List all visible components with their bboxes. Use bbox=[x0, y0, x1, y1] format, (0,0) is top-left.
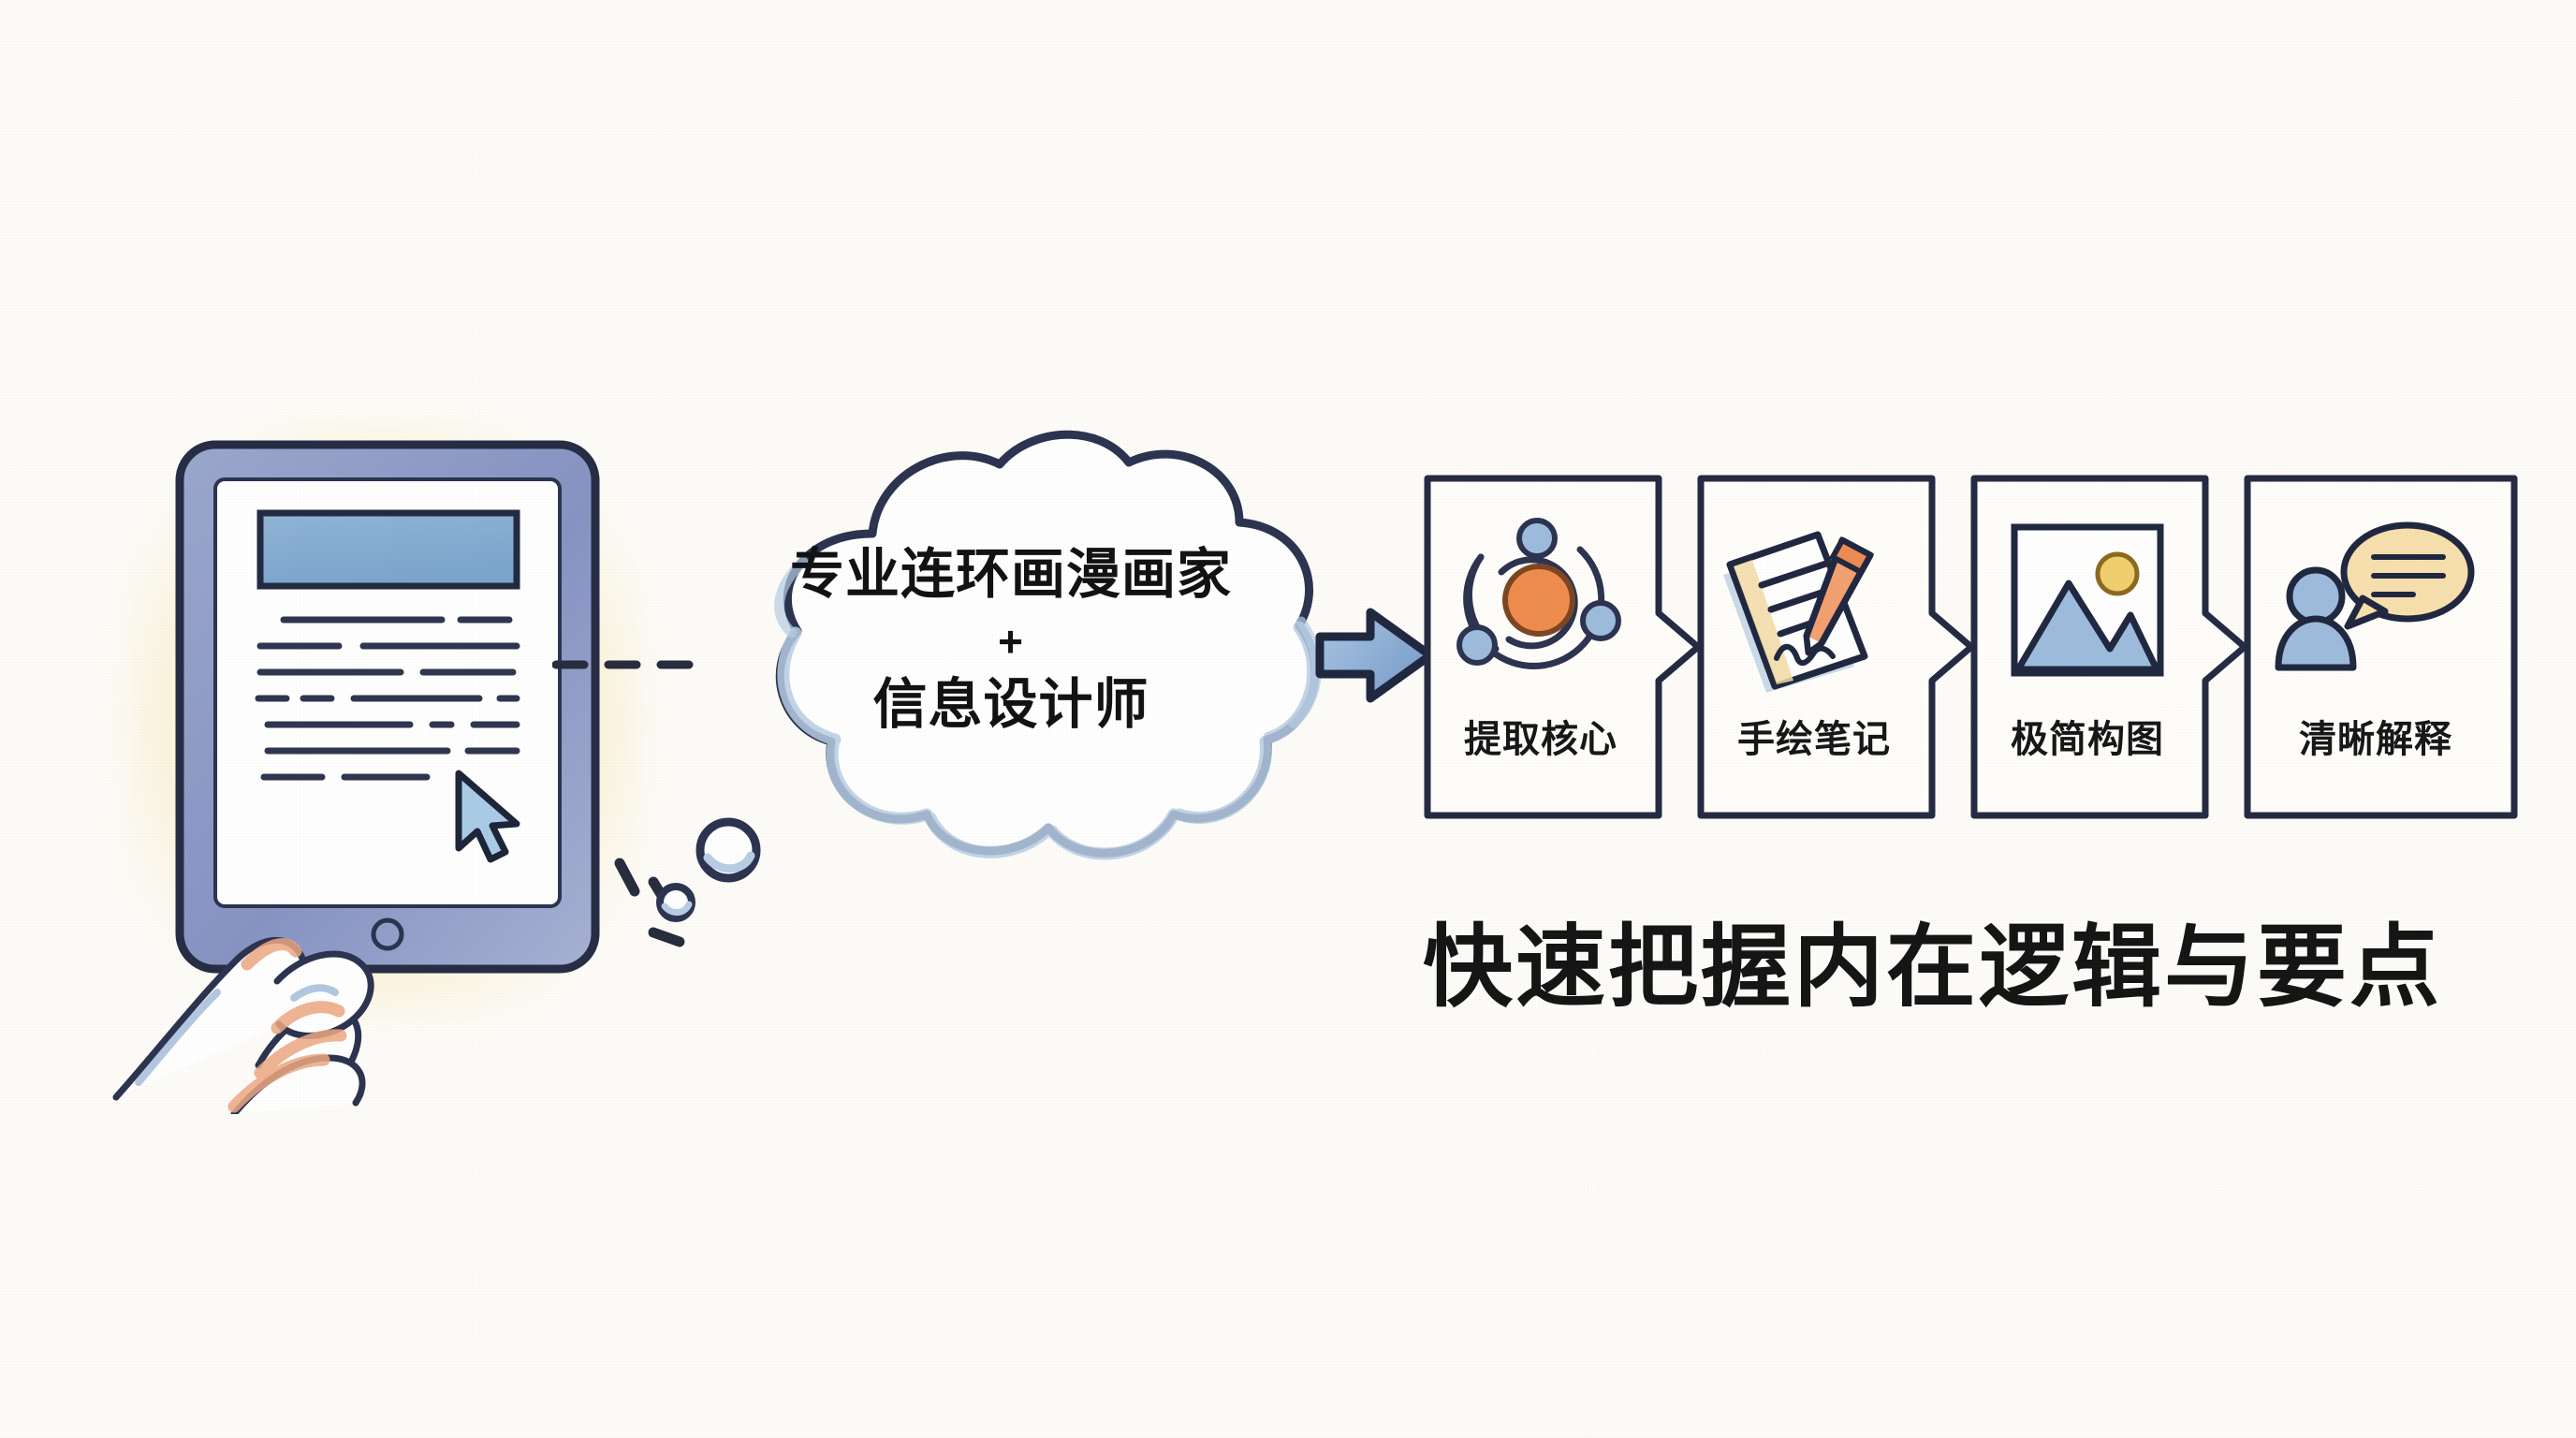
atom-electron-3 bbox=[1459, 627, 1495, 663]
sun bbox=[2098, 554, 2137, 594]
pipeline-card-1-label: 提取核心 bbox=[1423, 709, 1659, 763]
atom-electron-2 bbox=[1583, 603, 1618, 638]
thought-cloud: 专业连环画漫画家 + 信息设计师 bbox=[655, 412, 1367, 936]
pipeline-card-3[interactable]: 极简构图 bbox=[1969, 473, 2250, 821]
note-pencil-icon bbox=[1696, 506, 1928, 694]
pipeline-card-2[interactable]: 手绘笔记 bbox=[1696, 473, 1977, 821]
thought-bubble-trail bbox=[660, 822, 756, 918]
person-speech-bubble-icon bbox=[2258, 506, 2490, 694]
pipeline-card-3-label: 极简构图 bbox=[1969, 709, 2205, 763]
cloud-line-2: 信息设计师 bbox=[702, 673, 1320, 737]
cloud-plus-sign: + bbox=[702, 616, 1320, 667]
atom-nucleus bbox=[1505, 566, 1573, 634]
pipeline-card-4[interactable]: 清晰解释 bbox=[2243, 473, 2524, 821]
cloud-line-1: 专业连环画漫画家 bbox=[702, 543, 1320, 607]
pipeline-card-1[interactable]: 提取核心 bbox=[1423, 473, 1704, 821]
avatar-head bbox=[2290, 570, 2342, 623]
tablet-scene bbox=[94, 403, 730, 1114]
pipeline-card-2-label: 手绘笔记 bbox=[1696, 709, 1932, 763]
pipeline-card-4-label: 清晰解释 bbox=[2258, 709, 2494, 763]
pipeline-cards: 提取核心 bbox=[1423, 473, 2527, 829]
headline: 快速把握内在逻辑与要点 bbox=[1423, 894, 2527, 1024]
image-mountain-icon bbox=[1969, 506, 2202, 694]
avatar-body bbox=[2278, 619, 2353, 668]
atom-orbit-icon bbox=[1423, 506, 1655, 694]
blue-header-block bbox=[260, 513, 517, 586]
atom-electron-1 bbox=[1519, 521, 1555, 556]
